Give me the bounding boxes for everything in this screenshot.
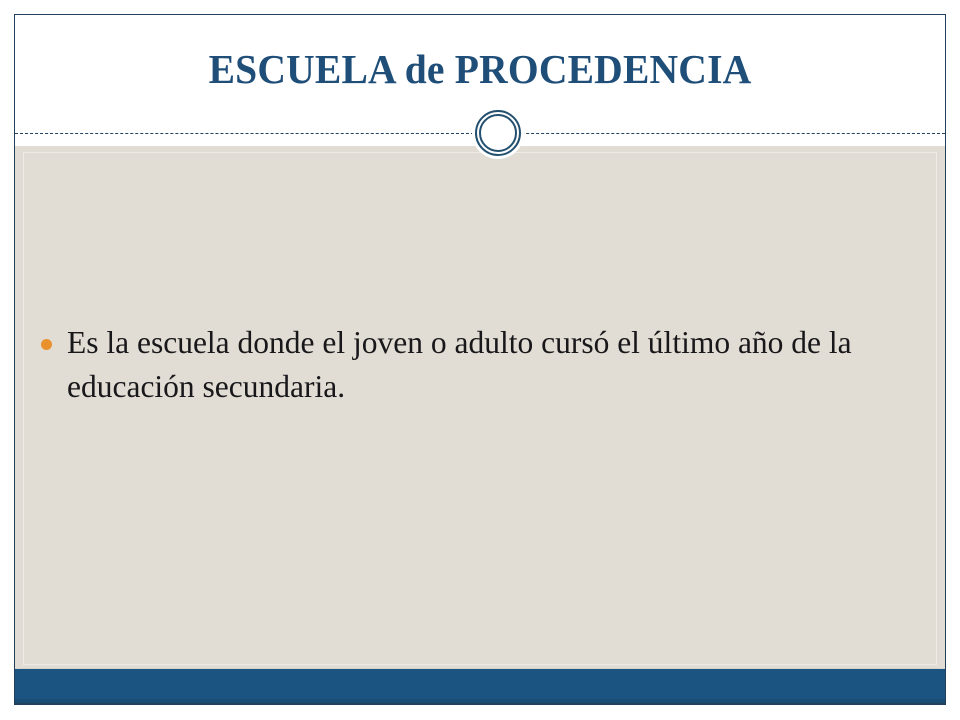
bullet-dot-shape (41, 339, 52, 350)
bottom-accent-band (15, 668, 945, 704)
bullet-text: Es la escuela donde el joven o adulto cu… (67, 321, 919, 409)
slide-title: ESCUELA de PROCEDENCIA (31, 45, 928, 93)
ornament-inner-ring (479, 114, 517, 152)
slide-canvas: ESCUELA de PROCEDENCIA Es la escuela don… (0, 0, 960, 720)
double-circle-ornament-icon (470, 105, 526, 161)
bullet-content-block: Es la escuela donde el joven o adulto cu… (41, 321, 919, 409)
bottom-band-edge (15, 703, 945, 704)
slide-body-area: Es la escuela donde el joven o adulto cu… (15, 146, 945, 669)
bullet-dot-icon (41, 321, 67, 350)
slide-frame: ESCUELA de PROCEDENCIA Es la escuela don… (14, 14, 946, 705)
list-item: Es la escuela donde el joven o adulto cu… (41, 321, 919, 409)
